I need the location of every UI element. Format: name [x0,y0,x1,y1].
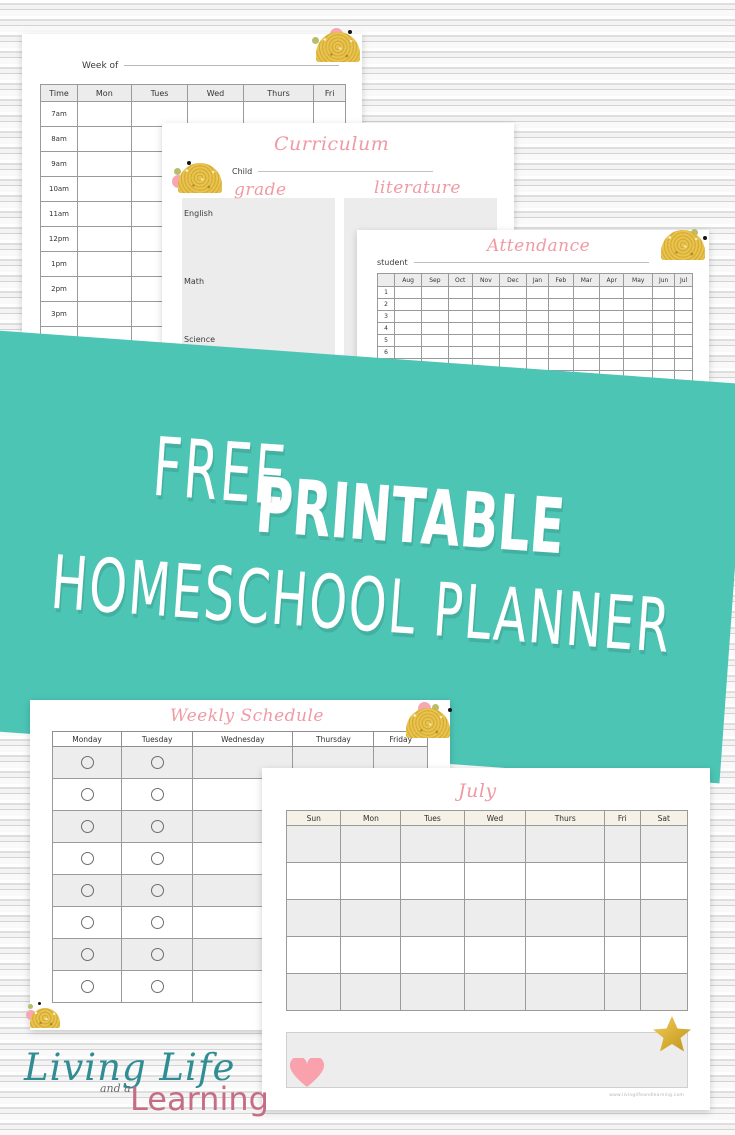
calendar-cell[interactable] [401,974,464,1011]
table-row [287,937,688,974]
calendar-cell[interactable] [341,900,401,937]
calendar-cell[interactable] [464,974,526,1011]
row-number: 5 [378,335,395,347]
month-header: May [624,274,653,287]
grade-column-header: grade [234,180,287,200]
attendance-cell[interactable] [653,359,675,371]
month-calendar-body [287,826,688,1011]
schedule-cell[interactable] [53,939,122,971]
attendance-cell[interactable] [624,311,653,323]
attendance-cell[interactable] [653,287,675,299]
black-dot-icon [348,30,352,34]
attendance-cell[interactable] [675,347,693,359]
attendance-cell[interactable] [448,287,472,299]
table-header-row: AugSepOctNovDecJanFebMarAprMayJunJul [378,274,693,287]
attendance-cell[interactable] [500,287,527,299]
col-header: Wed [188,85,243,102]
pink-heart-icon [290,1058,324,1088]
month-header: Oct [448,274,472,287]
subject-label: Science [184,335,215,344]
calendar-cell[interactable] [464,863,526,900]
month-header: Jun [653,274,675,287]
calendar-cell[interactable] [605,974,640,1011]
col-header: Tues [131,85,188,102]
weekly-schedule-title: Weekly Schedule [170,706,324,726]
calendar-cell[interactable] [287,826,341,863]
green-dot-icon [28,1004,33,1009]
day-header: Thurs [526,811,605,826]
calendar-cell[interactable] [341,863,401,900]
corner-cell [378,274,395,287]
calendar-cell[interactable] [287,900,341,937]
attendance-cell[interactable] [395,287,422,299]
schedule-cell[interactable] [53,779,122,811]
day-header: Tues [401,811,464,826]
attendance-title: Attendance [487,236,590,256]
attendance-cell[interactable] [395,347,422,359]
week-of-label: Week of [82,61,118,71]
calendar-cell[interactable] [401,937,464,974]
row-number: 6 [378,347,395,359]
attendance-cell[interactable] [675,311,693,323]
subject-label: Math [184,277,204,286]
attendance-cell[interactable] [395,311,422,323]
time-label: 1pm [41,252,78,277]
attendance-cell[interactable] [548,359,573,371]
table-row: 6 [378,347,693,359]
notes-row [286,1032,688,1088]
attendance-cell[interactable] [526,311,548,323]
attendance-cell[interactable] [422,311,448,323]
circle-checkbox-icon[interactable] [81,788,94,801]
attendance-cell[interactable] [600,347,624,359]
attendance-cell[interactable] [395,299,422,311]
schedule-cell[interactable] [78,227,132,252]
website-url: www.livinglifeandlearning.com [609,1093,684,1098]
circle-checkbox-icon[interactable] [151,980,164,993]
circle-checkbox-icon[interactable] [81,980,94,993]
row-number: 4 [378,323,395,335]
day-header: Wed [464,811,526,826]
attendance-cell[interactable] [653,347,675,359]
calendar-cell[interactable] [287,937,341,974]
schedule-cell[interactable] [122,779,193,811]
time-label: 11am [41,202,78,227]
calendar-cell[interactable] [401,900,464,937]
table-row [287,863,688,900]
calendar-cell[interactable] [287,863,341,900]
attendance-cell[interactable] [526,323,548,335]
calendar-cell[interactable] [464,937,526,974]
circle-checkbox-icon[interactable] [81,820,94,833]
month-header: Feb [548,274,573,287]
attendance-cell[interactable] [548,311,573,323]
month-calendar-sheet: July SunMonTuesWedThursFriSat www.living… [262,768,710,1110]
circle-checkbox-icon[interactable] [151,948,164,961]
curriculum-title: Curriculum [274,133,389,155]
schedule-cell[interactable] [122,939,193,971]
hedgehog-icon [312,28,366,62]
subject-label: English [184,209,213,218]
attendance-cell[interactable] [472,347,499,359]
calendar-cell[interactable] [341,974,401,1011]
day-header: Sat [640,811,688,826]
attendance-cell[interactable] [573,311,599,323]
attendance-cell[interactable] [600,299,624,311]
attendance-cell[interactable] [675,359,693,371]
calendar-cell[interactable] [640,900,688,937]
attendance-cell[interactable] [448,347,472,359]
time-label: 8am [41,127,78,152]
child-field: Child [232,167,433,176]
attendance-cell[interactable] [548,323,573,335]
student-label: student [377,258,408,267]
month-header: Aug [395,274,422,287]
attendance-cell[interactable] [500,323,527,335]
calendar-cell[interactable] [640,826,688,863]
attendance-cell[interactable] [653,299,675,311]
calendar-cell[interactable] [526,863,605,900]
attendance-cell[interactable] [448,311,472,323]
attendance-cell[interactable] [624,335,653,347]
attendance-cell[interactable] [573,347,599,359]
calendar-cell[interactable] [605,900,640,937]
month-header: Sep [422,274,448,287]
calendar-cell[interactable] [401,826,464,863]
attendance-cell[interactable] [500,311,527,323]
attendance-cell[interactable] [624,287,653,299]
calendar-cell[interactable] [526,937,605,974]
calendar-cell[interactable] [464,900,526,937]
hedgehog-icon [657,226,711,260]
hedgehog-icon [174,159,228,193]
attendance-cell[interactable] [653,323,675,335]
attendance-cell[interactable] [624,347,653,359]
attendance-cell[interactable] [422,335,448,347]
schedule-cell[interactable] [78,252,132,277]
table-row: 5 [378,335,693,347]
circle-checkbox-icon[interactable] [81,916,94,929]
schedule-cell[interactable] [53,843,122,875]
calendar-cell[interactable] [401,863,464,900]
circle-checkbox-icon[interactable] [81,884,94,897]
table-row [287,974,688,1011]
attendance-cell[interactable] [500,347,527,359]
day-header: Sun [287,811,341,826]
attendance-cell[interactable] [675,323,693,335]
attendance-cell[interactable] [653,311,675,323]
table-row [287,900,688,937]
schedule-cell[interactable] [53,747,122,779]
calendar-cell[interactable] [640,974,688,1011]
attendance-cell[interactable] [395,335,422,347]
schedule-cell[interactable] [53,811,122,843]
schedule-cell[interactable] [53,971,122,1003]
attendance-cell[interactable] [573,335,599,347]
table-row: 1 [378,287,693,299]
attendance-cell[interactable] [675,299,693,311]
attendance-cell[interactable] [422,299,448,311]
month-title: July [458,780,497,802]
col-header: Time [41,85,78,102]
day-header: Tuesday [122,732,193,747]
schedule-cell[interactable] [53,875,122,907]
student-rule [414,261,649,263]
calendar-cell[interactable] [640,937,688,974]
month-header: Apr [600,274,624,287]
row-number: 2 [378,299,395,311]
attendance-cell[interactable] [675,287,693,299]
schedule-cell[interactable] [122,971,193,1003]
hedgehog-body [178,163,222,193]
literature-column-header: literature [374,178,461,198]
poster-canvas: Week of Time Mon Tues Wed Thurs Fri 7am8… [0,0,735,1135]
attendance-cell[interactable] [526,299,548,311]
hedgehog-body [406,708,450,738]
time-label: 7am [41,102,78,127]
schedule-cell[interactable] [53,907,122,939]
attendance-cell[interactable] [548,299,573,311]
col-header: Mon [78,85,132,102]
schedule-cell[interactable] [122,843,193,875]
calendar-cell[interactable] [640,863,688,900]
attendance-cell[interactable] [448,335,472,347]
attendance-cell[interactable] [600,311,624,323]
attendance-cell[interactable] [624,359,653,371]
attendance-cell[interactable] [653,335,675,347]
day-header: Mon [341,811,401,826]
child-rule [258,170,433,172]
attendance-cell[interactable] [448,299,472,311]
hedgehog-body [30,1008,60,1028]
attendance-cell[interactable] [526,335,548,347]
logo-and-a: and a [100,1082,131,1095]
attendance-cell[interactable] [422,287,448,299]
attendance-cell[interactable] [600,323,624,335]
schedule-cell[interactable] [78,177,132,202]
attendance-cell[interactable] [573,323,599,335]
calendar-cell[interactable] [526,900,605,937]
circle-checkbox-icon[interactable] [151,916,164,929]
attendance-cell[interactable] [600,335,624,347]
table-header-row: MondayTuesdayWednesdayThursdayFriday [53,732,428,747]
hedgehog-icon [402,704,456,738]
day-header: Thursday [293,732,374,747]
attendance-cell[interactable] [548,287,573,299]
table-header-row: SunMonTuesWedThursFriSat [287,811,688,826]
circle-checkbox-icon[interactable] [151,884,164,897]
attendance-cell[interactable] [472,335,499,347]
logo-learning: Learning [130,1080,269,1118]
attendance-cell[interactable] [573,299,599,311]
attendance-cell[interactable] [573,359,599,371]
col-header: Thurs [243,85,314,102]
table-row: 3 [378,311,693,323]
week-of-rule [124,64,339,66]
black-dot-icon [703,236,707,240]
circle-checkbox-icon[interactable] [81,948,94,961]
brand-logo[interactable]: Living Life and a Learning [22,1046,242,1124]
month-header: Mar [573,274,599,287]
schedule-cell[interactable] [78,102,132,127]
schedule-cell[interactable] [122,747,193,779]
month-header: Dec [500,274,527,287]
day-header: Wednesday [193,732,293,747]
attendance-cell[interactable] [472,287,499,299]
attendance-cell[interactable] [624,323,653,335]
month-calendar-table: SunMonTuesWedThursFriSat [286,810,688,1011]
student-field: student [377,258,649,267]
black-dot-icon [38,1002,41,1005]
day-header: Fri [605,811,640,826]
week-of-field: Week of [82,61,339,71]
calendar-cell[interactable] [605,863,640,900]
attendance-cell[interactable] [500,335,527,347]
day-header: Monday [53,732,122,747]
attendance-cell[interactable] [573,287,599,299]
attendance-cell[interactable] [624,299,653,311]
table-row: 4 [378,323,693,335]
row-number: 1 [378,287,395,299]
attendance-cell[interactable] [600,359,624,371]
circle-checkbox-icon[interactable] [81,852,94,865]
schedule-cell[interactable] [78,202,132,227]
attendance-cell[interactable] [422,323,448,335]
attendance-cell[interactable] [500,299,527,311]
calendar-cell[interactable] [605,826,640,863]
attendance-cell[interactable] [395,323,422,335]
attendance-cell[interactable] [548,335,573,347]
schedule-cell[interactable] [78,127,132,152]
time-label: 12pm [41,227,78,252]
child-label: Child [232,167,252,176]
attendance-cell[interactable] [448,323,472,335]
table-header-row: Time Mon Tues Wed Thurs Fri [41,85,346,102]
circle-checkbox-icon[interactable] [151,788,164,801]
calendar-cell[interactable] [464,826,526,863]
circle-checkbox-icon[interactable] [151,852,164,865]
schedule-cell[interactable] [78,152,132,177]
attendance-cell[interactable] [422,347,448,359]
schedule-cell[interactable] [122,907,193,939]
calendar-cell[interactable] [341,937,401,974]
hedgehog-body [316,32,360,62]
attendance-cell[interactable] [472,323,499,335]
time-label: 2pm [41,277,78,302]
col-header: Fri [314,85,346,102]
table-row [287,826,688,863]
time-label: 3pm [41,302,78,327]
month-header: Jul [675,274,693,287]
schedule-cell[interactable] [122,811,193,843]
circle-checkbox-icon[interactable] [151,820,164,833]
calendar-cell[interactable] [526,974,605,1011]
attendance-cell[interactable] [526,347,548,359]
calendar-cell[interactable] [526,826,605,863]
month-header: Jan [526,274,548,287]
attendance-cell[interactable] [675,335,693,347]
table-row: 2 [378,299,693,311]
calendar-cell[interactable] [605,937,640,974]
time-label: 10am [41,177,78,202]
time-label: 9am [41,152,78,177]
gold-star-icon [652,1014,692,1054]
circle-checkbox-icon[interactable] [81,756,94,769]
calendar-cell[interactable] [341,826,401,863]
calendar-cell[interactable] [287,974,341,1011]
circle-checkbox-icon[interactable] [151,756,164,769]
month-header: Nov [472,274,499,287]
attendance-cell[interactable] [548,347,573,359]
attendance-cell[interactable] [472,311,499,323]
schedule-cell[interactable] [122,875,193,907]
schedule-cell[interactable] [78,302,132,327]
black-dot-icon [448,708,452,712]
attendance-cell[interactable] [472,299,499,311]
month-calendar-table-wrap: SunMonTuesWedThursFriSat [286,810,688,1011]
hedgehog-body [661,230,705,260]
attendance-cell[interactable] [526,287,548,299]
schedule-cell[interactable] [78,277,132,302]
row-number: 3 [378,311,395,323]
attendance-cell[interactable] [600,287,624,299]
hedgehog-icon [26,1002,66,1028]
